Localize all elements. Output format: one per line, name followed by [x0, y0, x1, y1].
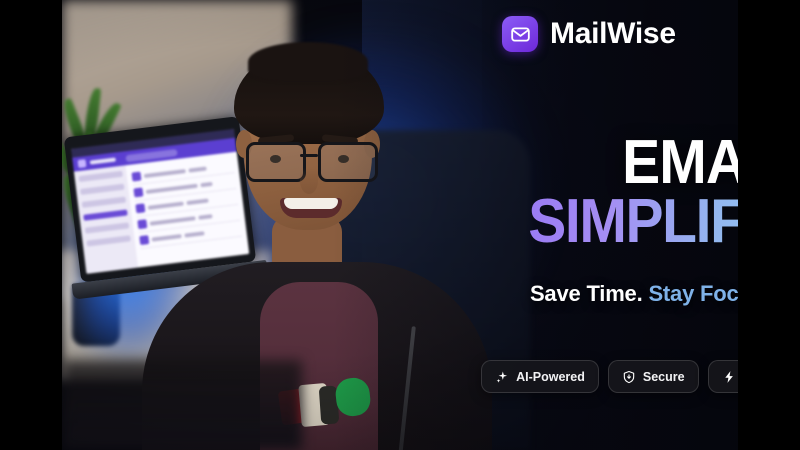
letterbox-bar-left: [0, 0, 62, 450]
badge-label: AI-Powered: [516, 370, 585, 384]
promo-banner: MailWise EMAIL SIMPLIFIED. Save Time. St…: [0, 0, 800, 450]
envelope-icon: [502, 16, 538, 52]
brand-lockup: MailWise: [502, 16, 676, 52]
shield-icon: [622, 370, 636, 384]
headline: EMAIL SIMPLIFIED.: [505, 134, 738, 253]
subheadline-part-1: Save Time.: [530, 281, 643, 306]
feature-badges: AI-Powered Secure: [462, 360, 738, 393]
subheadline-part-2: Stay Focused.: [648, 281, 738, 306]
headline-line-1: EMAIL: [528, 134, 738, 191]
letterbox-bar-right: [738, 0, 800, 450]
badge-smart[interactable]: Smart: [708, 360, 738, 393]
badge-secure[interactable]: Secure: [608, 360, 699, 393]
text-overlay: MailWise EMAIL SIMPLIFIED. Save Time. St…: [62, 0, 738, 450]
brand-name: MailWise: [550, 17, 676, 51]
headline-line-2: SIMPLIFIED.: [528, 191, 738, 253]
photo-frame: MailWise EMAIL SIMPLIFIED. Save Time. St…: [62, 0, 738, 450]
sparkle-icon: [495, 370, 509, 384]
badge-label: Secure: [643, 370, 685, 384]
lightning-bolt-icon: [722, 370, 736, 384]
badge-ai-powered[interactable]: AI-Powered: [481, 360, 599, 393]
subheadline: Save Time. Stay Focused.: [442, 281, 738, 307]
